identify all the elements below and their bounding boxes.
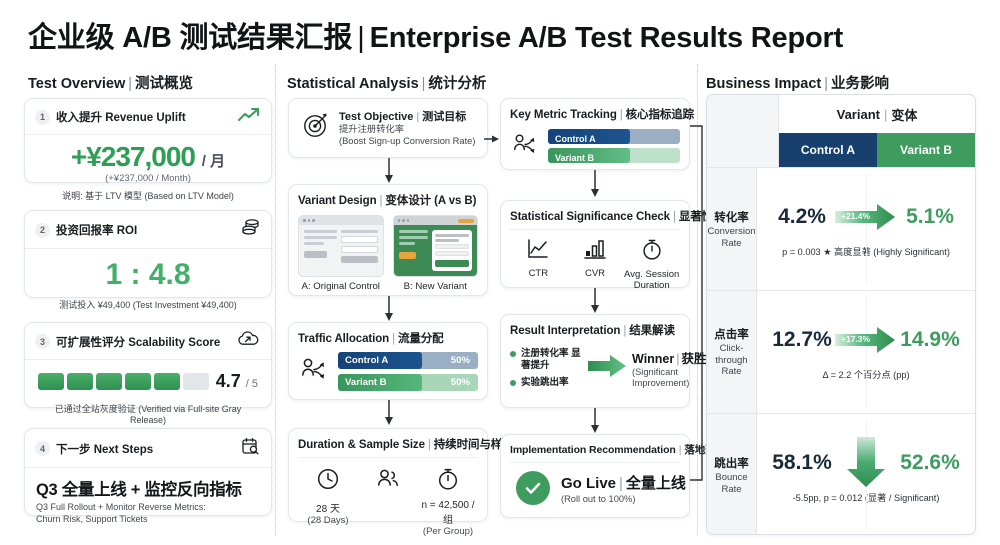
card-next-title: 下一步 Next Steps: [56, 441, 153, 457]
key-metric-title-en: Key Metric Tracking: [510, 109, 617, 121]
traffic-title-en: Traffic Allocation: [298, 333, 389, 345]
go-live-text: Go Live|全量上线 (Roll out to 100%): [561, 472, 686, 504]
mock-line: [399, 236, 429, 239]
next-steps-headline: Q3 全量上线 + 监控反向指标: [36, 476, 260, 500]
revenue-subvalue: (+¥237,000 / Month): [35, 173, 261, 184]
page-title-zh: 企业级 A/B 测试结果汇报: [28, 22, 352, 54]
card-revenue-title: 收入提升 Revenue Uplift: [56, 109, 186, 125]
duration-cell-sample: n = 42,500 / 组 (Per Group): [418, 467, 478, 537]
significance-title-en: Statistical Significance Check: [510, 211, 670, 223]
card-revenue-body: +¥237,000 / 月 (+¥237,000 / Month) 说明: 基于…: [25, 135, 271, 211]
objective-row: Test Objective|测试目标 提升注册转化率 (Boost Sign-…: [298, 106, 478, 148]
go-live-en: Go Live: [561, 475, 616, 492]
mock-button: [304, 251, 327, 258]
winner-en: Winner: [632, 352, 674, 366]
table-row: 点击率 Click-through Rate 12.7% +17.3% 14.9…: [707, 290, 975, 413]
objective-title: Test Objective|测试目标: [339, 108, 475, 124]
duration-cell-days: 28 天 (28 Days): [298, 467, 358, 526]
objective-title-en: Test Objective: [339, 111, 413, 123]
traffic-bars-row: Control A 50% Variant B 50%: [298, 352, 478, 391]
column-heading-right-bar: |: [821, 76, 831, 92]
interpretation-bullets: 注册转化率 显著提升 实验跳出率: [510, 343, 584, 394]
scalability-segments: [38, 373, 209, 390]
mockup-control: A: Original Control: [298, 215, 384, 292]
significance-metrics: CTR CVR: [510, 238, 680, 292]
key-metric-bar-control: Control A: [548, 129, 680, 144]
significance-divider: [510, 229, 680, 230]
variant-design-title-en: Variant Design: [298, 195, 377, 207]
interpretation-bullet: 实验跳出率: [510, 377, 584, 389]
interpretation-bullet: 注册转化率 显著提升: [510, 348, 584, 372]
table-col-header-variant: Variant B: [877, 133, 975, 167]
card-roi-body: 1 : 4.8 测试投入 ¥49,400 (Test Investment ¥4…: [25, 249, 271, 320]
scalability-segment: [67, 373, 93, 390]
column-heading-left-bar: |: [125, 76, 135, 92]
go-live-row: Go Live|全量上线 (Roll out to 100%): [510, 463, 680, 509]
duration-title: Duration & Sample Size|持续时间与样本量: [298, 436, 478, 452]
infographic-page: 企业级 A/B 测试结果汇报|Enterprise A/B Test Resul…: [0, 0, 1000, 545]
mock-button: [341, 256, 377, 263]
bullet-dot-icon: [510, 351, 516, 357]
objective-title-zh: 测试目标: [422, 111, 466, 123]
card-test-objective[interactable]: Test Objective|测试目标 提升注册转化率 (Boost Sign-…: [288, 98, 488, 158]
interpretation-row: 注册转化率 显著提升 实验跳出率 Winner|获胜 (Significant: [510, 343, 680, 394]
table-row-label: 点击率 Click-through Rate: [707, 291, 757, 413]
row-value-variant: 52.6%: [897, 451, 963, 475]
scalability-score: 4.7 / 5: [216, 371, 258, 392]
column-heading-mid-bar: |: [419, 76, 429, 92]
card-scalability[interactable]: 3 可扩展性评分 Scalability Score: [24, 322, 272, 408]
column-heading-mid-zh: 统计分析: [428, 76, 486, 92]
objective-title-bar: |: [413, 111, 422, 123]
scalability-score-outof: / 5: [246, 378, 258, 390]
mock-dot: [398, 219, 401, 222]
table-row-label: 转化率 Conversion Rate: [707, 168, 757, 290]
table-corner-cell: [707, 95, 779, 133]
card-implementation-recommendation[interactable]: Implementation Recommendation|落地建议 Go Li…: [500, 434, 690, 518]
table-variant-header-en: Variant: [837, 107, 880, 122]
table-col-header-control: Control A: [779, 133, 877, 167]
bar-chart-icon: [583, 247, 607, 264]
row-value-row: 4.2% +21.4% 5.1%: [757, 200, 975, 234]
column-heading-statistical-analysis: Statistical Analysis|统计分析: [287, 72, 486, 93]
key-metric-bar-label: Variant B: [548, 153, 594, 163]
target-icon: [302, 111, 330, 144]
card-traffic-allocation[interactable]: Traffic Allocation|流量分配 Control A 50%: [288, 322, 488, 400]
variant-design-title-zh: 变体设计 (A vs B): [385, 195, 476, 207]
traffic-bar-pct: 50%: [451, 355, 478, 366]
interpretation-bullet-text: 注册转化率 显著提升: [521, 348, 584, 372]
column-heading-mid-en: Statistical Analysis: [287, 76, 419, 92]
card-scalability-body: 4.7 / 5 已通过全站灰度验证 (Verified via Full-sit…: [25, 360, 271, 433]
mock-dot: [312, 219, 315, 222]
row-metric-en: Conversion Rate: [707, 226, 756, 249]
table-row: 跳出率 Bounce Rate 58.1% 52.6% -5.5pp, p = …: [707, 413, 975, 535]
row-metric-en: Click-through Rate: [707, 343, 756, 377]
row-value-row: 58.1% 52.6%: [757, 446, 975, 480]
card-number-badge: 3: [35, 334, 50, 349]
calendar-search-icon: [241, 437, 260, 460]
table-row-values: 12.7% +17.3% 14.9% Δ = 2.2 个百分点 (pp): [757, 291, 975, 413]
flow-arrow-down: [382, 158, 396, 184]
table-variant-header-zh: 变体: [891, 105, 917, 124]
duration-cell-users: [358, 467, 418, 500]
row-metric-zh: 跳出率: [714, 455, 749, 471]
stopwatch-icon: [640, 248, 664, 265]
recommendation-title: Implementation Recommendation|落地建议: [510, 442, 680, 457]
significance-metric-duration: Avg. Session Duration: [623, 238, 680, 292]
key-metric-title: Key Metric Tracking|核心指标追踪: [510, 106, 680, 122]
traffic-title-zh: 流量分配: [398, 333, 444, 345]
mock-cta-pill: [458, 219, 474, 223]
traffic-title: Traffic Allocation|流量分配: [298, 330, 478, 346]
mockup-window-b: [393, 215, 479, 277]
duration-title-en: Duration & Sample Size: [298, 439, 425, 451]
mock-field: [435, 251, 469, 256]
objective-line2: (Boost Sign-up Conversion Rate): [339, 136, 475, 148]
traffic-bar-label: Control A: [338, 355, 388, 366]
scalability-segment: [125, 373, 151, 390]
scalability-segment: [154, 373, 180, 390]
mockup-window-a: [298, 215, 384, 277]
scalability-note: 已通过全站灰度验证 (Verified via Full-site Gray R…: [36, 402, 260, 425]
card-number-badge: 4: [35, 441, 50, 456]
duration-title-bar: |: [425, 439, 434, 451]
mock-field: [435, 244, 469, 249]
mockup-variant: B: New Variant: [393, 215, 479, 292]
mock-line: [435, 234, 469, 237]
delta-badge: +17.3%: [841, 334, 870, 344]
go-live-title: Go Live|全量上线: [561, 472, 686, 493]
table-row: 转化率 Conversion Rate 4.2% +21.4% 5.1%: [707, 167, 975, 290]
cloud-upload-icon: [237, 331, 260, 352]
card-number-badge: 1: [35, 110, 50, 125]
card-scalability-header: 3 可扩展性评分 Scalability Score: [25, 323, 271, 360]
card-next-body: Q3 全量上线 + 监控反向指标 Q3 Full Rollout + Monit…: [25, 468, 271, 533]
row-value-control: 4.2%: [769, 205, 835, 229]
key-metric-title-bar: |: [617, 109, 626, 121]
significance-metric-ctr: CTR: [510, 238, 567, 279]
mock-right: [341, 230, 377, 263]
page-title: 企业级 A/B 测试结果汇报|Enterprise A/B Test Resul…: [28, 14, 843, 56]
row-metric-en: Bounce Rate: [707, 472, 756, 495]
duration-days-en: (28 Days): [298, 515, 358, 526]
card-roi-header: 2 投资回报率 ROI: [25, 211, 271, 249]
flow-arrow-down: [588, 408, 602, 434]
mock-dot: [303, 219, 306, 222]
objective-line1: 提升注册转化率: [339, 124, 475, 136]
next-steps-sub2: Churn Risk, Support Tickets: [36, 514, 260, 526]
significance-title: Statistical Significance Check|显著性检验: [510, 208, 680, 224]
row-value-row: 12.7% +17.3% 14.9%: [757, 323, 975, 357]
mock-dot: [402, 219, 405, 222]
row-value-variant: 14.9%: [897, 328, 963, 352]
go-live-sub: (Roll out to 100%): [561, 494, 686, 504]
users-icon: [375, 478, 401, 495]
revenue-value-row: +¥237,000 / 月: [35, 142, 261, 172]
mock-line: [304, 242, 324, 245]
card-roi-title: 投资回报率 ROI: [56, 222, 137, 238]
go-live-bar: |: [616, 475, 626, 492]
table-variant-header-bar: |: [880, 107, 891, 122]
trending-up-icon: [238, 107, 260, 127]
row-value-control: 12.7%: [769, 328, 835, 352]
mock-titlebar: [394, 216, 478, 225]
line-chart-icon: [526, 247, 550, 264]
column-heading-left-en: Test Overview: [28, 76, 125, 92]
row-metric-zh: 点击率: [714, 326, 749, 342]
column-heading-business-impact: Business Impact|业务影响: [706, 72, 889, 93]
card-result-interpretation[interactable]: Result Interpretation|结果解读 注册转化率 显著提升 实验…: [500, 314, 690, 408]
interpretation-title-en: Result Interpretation: [510, 325, 620, 337]
mockup-label-b: B: New Variant: [393, 281, 479, 292]
scalability-score-row: 4.7 / 5: [36, 369, 260, 394]
traffic-bar-label: Variant B: [338, 377, 387, 388]
scalability-segment: [96, 373, 122, 390]
column-heading-left-zh: 测试概览: [135, 76, 193, 92]
sample-size-en: (Per Group): [418, 526, 478, 537]
key-metric-bars-row: Control A Variant B: [510, 129, 680, 163]
significance-label-duration: Avg. Session Duration: [623, 269, 680, 292]
key-metric-bar-variant: Variant B: [548, 148, 680, 163]
row-value-control: 58.1%: [769, 451, 835, 475]
flow-arrow-down: [588, 288, 602, 314]
scalability-score-value: 4.7: [216, 371, 241, 391]
variant-mockups: A: Original Control: [298, 215, 478, 292]
flow-arrow-down: [382, 400, 396, 426]
card-key-metric-tracking[interactable]: Key Metric Tracking|核心指标追踪 Control A: [500, 98, 690, 170]
mock-line: [399, 242, 415, 245]
mock-titlebar: [299, 216, 383, 225]
interpretation-title-bar: |: [620, 325, 629, 337]
mock-line: [435, 239, 459, 242]
key-metric-title-zh: 核心指标追踪: [626, 109, 694, 121]
flow-arrow-down: [382, 296, 396, 322]
revenue-value: +¥237,000: [71, 141, 195, 172]
mock-button: [435, 260, 469, 267]
mock-button: [399, 252, 417, 259]
table-corner-cell: [707, 133, 779, 167]
duration-days: 28 天: [298, 500, 358, 515]
table-variant-header: Variant|变体: [779, 95, 975, 133]
traffic-title-bar: |: [389, 333, 398, 345]
duration-divider: [298, 457, 478, 458]
column-heading-right-en: Business Impact: [706, 76, 821, 92]
column-heading-test-overview: Test Overview|测试概览: [28, 72, 193, 93]
title-separator: |: [352, 22, 369, 54]
card-revenue-header: 1 收入提升 Revenue Uplift: [25, 99, 271, 135]
mock-line: [399, 230, 429, 233]
significance-title-bar: |: [670, 211, 679, 223]
delta-arrow-right-icon: +17.3%: [835, 323, 897, 357]
mock-body: [394, 225, 478, 276]
key-metric-bars: Control A Variant B: [548, 129, 680, 163]
mock-signup-card: [432, 230, 472, 271]
card-scalability-title: 可扩展性评分 Scalability Score: [56, 334, 220, 350]
mock-field: [341, 236, 377, 243]
card-duration-sample[interactable]: Duration & Sample Size|持续时间与样本量 28 天 (28…: [288, 428, 488, 522]
interpretation-title: Result Interpretation|结果解读: [510, 322, 680, 338]
clock-icon: [316, 478, 340, 495]
mock-line: [304, 236, 337, 239]
revenue-note: 说明: 基于 LTV 模型 (Based on LTV Model): [35, 189, 261, 202]
mock-dot: [407, 219, 410, 222]
page-title-en: Enterprise A/B Test Results Report: [370, 22, 843, 54]
key-metric-bar-label: Control A: [548, 134, 596, 144]
mock-line: [341, 230, 377, 233]
card-significance-check[interactable]: Statistical Significance Check|显著性检验 CTR: [500, 200, 690, 288]
significance-label-ctr: CTR: [510, 268, 567, 279]
variant-design-title: Variant Design|变体设计 (A vs B): [298, 192, 478, 208]
scalability-segment: [183, 373, 209, 390]
user-split-icon: [301, 356, 329, 387]
card-variant-design[interactable]: Variant Design|变体设计 (A vs B): [288, 184, 488, 296]
traffic-bar-variant: Variant B 50%: [338, 374, 478, 391]
delta-badge: +21.4%: [841, 211, 870, 221]
revenue-unit: / 月: [202, 153, 225, 170]
mock-left: [304, 230, 337, 263]
duration-cells: 28 天 (28 Days): [298, 467, 478, 537]
card-next-steps[interactable]: 4 下一步 Next Steps Q3 全量上线 + 监控反向指标 Q3 Ful…: [24, 428, 272, 516]
row-value-variant: 5.1%: [897, 205, 963, 229]
flow-arrow-down: [588, 170, 602, 198]
roi-note: 测试投入 ¥49,400 (Test Investment ¥49,400): [35, 298, 261, 311]
card-number-badge: 2: [35, 223, 50, 238]
card-revenue-uplift[interactable]: 1 收入提升 Revenue Uplift +¥237,000 / 月 (+¥2…: [24, 98, 272, 183]
card-roi[interactable]: 2 投资回报率 ROI 1 : 4.8 测试投入 ¥49,400 (Test I…: [24, 210, 272, 298]
mock-dot: [308, 219, 311, 222]
traffic-bars: Control A 50% Variant B 50%: [338, 352, 478, 391]
scalability-segment: [38, 373, 64, 390]
recommendation-title-en: Implementation Recommendation: [510, 444, 676, 456]
flow-arrow-right: [484, 130, 500, 148]
table-header-group: Variant|变体: [707, 95, 975, 133]
row-metric-zh: 转化率: [714, 209, 749, 225]
column-divider-1: [275, 64, 276, 536]
mock-field: [341, 246, 377, 253]
table-row-values: 58.1% 52.6% -5.5pp, p = 0.012 (显著 / Sign…: [757, 414, 975, 535]
table-row-label: 跳出率 Bounce Rate: [707, 414, 757, 535]
delta-arrow-down-icon: [835, 446, 897, 480]
mockup-label-a: A: Original Control: [298, 281, 384, 292]
objective-text: Test Objective|测试目标 提升注册转化率 (Boost Sign-…: [339, 108, 475, 147]
table-row-values: 4.2% +21.4% 5.1% p = 0.003 ★ 高度显著 (Highl…: [757, 168, 975, 290]
interpretation-title-zh: 结果解读: [629, 325, 675, 337]
column-heading-right-zh: 业务影响: [831, 76, 889, 92]
card-next-header: 4 下一步 Next Steps: [25, 429, 271, 468]
user-split-icon: [513, 132, 539, 161]
stopwatch-icon: [436, 478, 460, 495]
business-impact-table[interactable]: Variant|变体 Control A Variant B 转化率 Conve…: [706, 94, 976, 535]
bullet-dot-icon: [510, 380, 516, 386]
coins-icon: [240, 219, 260, 241]
significance-metric-cvr: CVR: [567, 238, 624, 279]
green-arrow-right-icon: [588, 351, 628, 386]
winner-bar: |: [674, 352, 681, 366]
mock-body: [299, 225, 383, 268]
mock-left: [399, 230, 429, 271]
go-live-zh: 全量上线: [626, 475, 686, 492]
traffic-bar-pct: 50%: [451, 377, 478, 388]
sample-size: n = 42,500 / 组: [418, 500, 478, 526]
traffic-bar-control: Control A 50%: [338, 352, 478, 369]
table-header-columns: Control A Variant B: [707, 133, 975, 167]
significance-label-cvr: CVR: [567, 268, 624, 279]
next-steps-sub1: Q3 Full Rollout + Monitor Reverse Metric…: [36, 502, 260, 514]
delta-arrow-right-icon: +21.4%: [835, 200, 897, 234]
mock-line: [304, 230, 337, 233]
roi-value: 1 : 4.8: [35, 258, 261, 291]
check-circle-icon: [516, 471, 550, 505]
interpretation-bullet-text: 实验跳出率: [521, 377, 569, 389]
